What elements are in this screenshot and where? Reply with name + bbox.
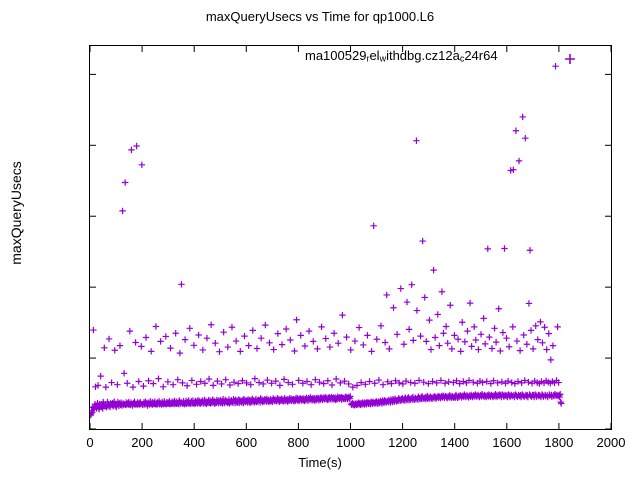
x-tick-label: 2000 (571, 436, 640, 449)
chart-title: maxQueryUsecs vs Time for qp1000.L6 (0, 9, 640, 24)
x-axis-label: Time(s) (0, 455, 640, 470)
scatter-plot-svg (90, 46, 611, 429)
gnuplot-figure: maxQueryUsecs vs Time for qp1000.L6 maxQ… (0, 0, 640, 480)
legend-label: ma100529relwithdbg.cz12ac24r64 (305, 48, 498, 64)
y-axis-label: maxQueryUsecs (8, 133, 24, 293)
data-points-layer (90, 63, 564, 418)
axis-tick-marks (90, 46, 611, 429)
legend-marker-icon (563, 52, 577, 66)
plot-area (89, 45, 612, 430)
